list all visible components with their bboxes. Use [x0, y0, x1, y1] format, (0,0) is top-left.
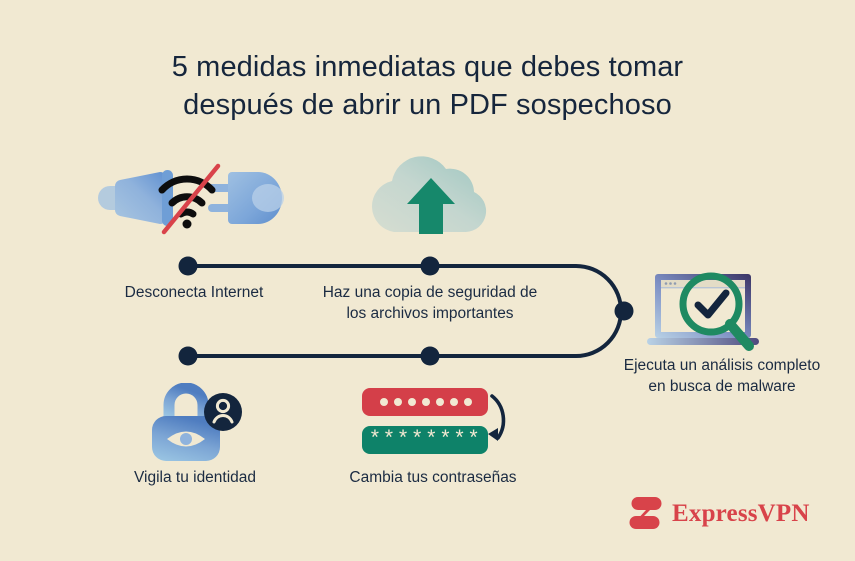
timeline-node-5: [179, 347, 198, 366]
step-label-backup-line-2: los archivos importantes: [346, 305, 513, 322]
step-label-identity: Vigila tu identidad: [80, 467, 310, 488]
timeline-node-1: [179, 257, 198, 276]
password-fields-swap-icon: ********: [362, 386, 522, 458]
step-label-disconnect-text: Desconecta Internet: [125, 284, 264, 301]
wifi-off-unplugged-icon: [88, 158, 300, 238]
timeline-node-3: [615, 302, 634, 321]
title-line-1: 5 medidas inmediatas que debes tomar: [0, 48, 855, 86]
infographic-canvas: 5 medidas inmediatas que debes tomar des…: [0, 0, 855, 561]
step-label-disconnect: Desconecta Internet: [79, 282, 309, 303]
timeline-node-2: [421, 257, 440, 276]
page-title: 5 medidas inmediatas que debes tomar des…: [0, 48, 855, 124]
step-label-identity-text: Vigila tu identidad: [134, 469, 256, 486]
step-label-backup: Haz una copia de seguridad de los archiv…: [312, 282, 548, 324]
expressvpn-e-mark-icon: [625, 495, 663, 534]
step-label-scan-line-2: en busca de malware: [648, 378, 795, 395]
cloud-upload-icon: [360, 156, 502, 240]
svg-text:********: ********: [369, 429, 482, 452]
title-line-2: después de abrir un PDF sospechoso: [0, 86, 855, 124]
timeline-node-4: [421, 347, 440, 366]
step-label-passwords-text: Cambia tus contraseñas: [349, 469, 516, 486]
step-label-backup-line-1: Haz una copia de seguridad de: [323, 284, 538, 301]
step-label-scan: Ejecuta un análisis completo en busca de…: [596, 355, 848, 397]
expressvpn-logo: ExpressVPN: [625, 494, 785, 534]
expressvpn-wordmark: ExpressVPN: [672, 500, 810, 528]
laptop-magnifier-check-icon: [645, 268, 767, 354]
step-label-scan-line-1: Ejecuta un análisis completo: [624, 357, 820, 374]
padlock-eye-person-icon: [148, 383, 242, 465]
step-label-passwords: Cambia tus contraseñas: [318, 467, 548, 488]
